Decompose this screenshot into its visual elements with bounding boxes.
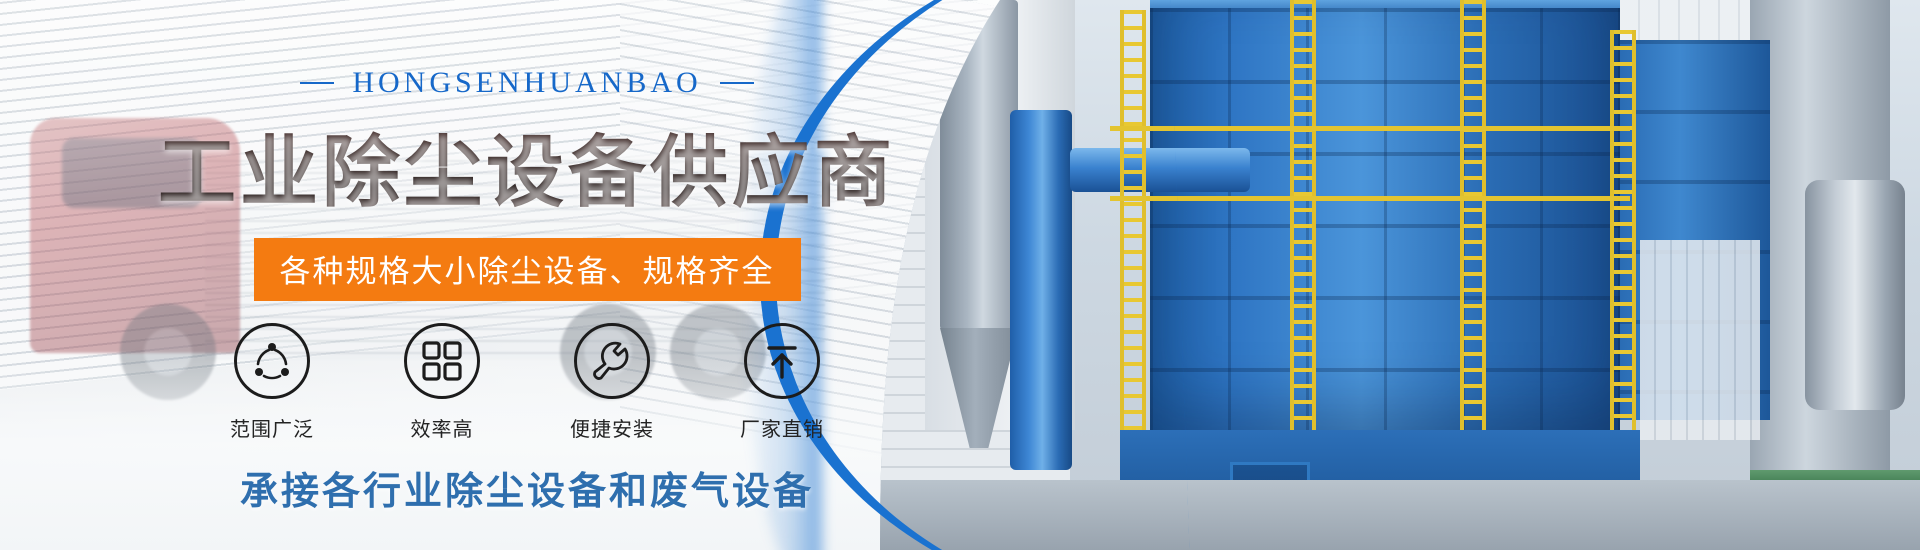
feature-label: 范围广泛 — [230, 413, 314, 442]
blue-duct-vertical — [1010, 110, 1072, 470]
eyebrow-text: HONGSENHUANBAO — [352, 66, 701, 100]
arrow-up-bar-icon — [744, 323, 820, 399]
steel-cylinder — [1805, 180, 1905, 410]
feature-item-installation[interactable]: 便捷安装 — [558, 323, 666, 442]
subtitle-bar: 各种规格大小除尘设备、规格齐全 — [254, 238, 801, 301]
yellow-ladder — [1120, 10, 1146, 430]
eyebrow: HONGSENHUANBAO — [300, 66, 753, 100]
feature-item-efficiency[interactable]: 效率高 — [388, 323, 496, 442]
hero-banner: 13132700 HONGSENHUANBAO — [0, 0, 1920, 550]
yellow-ladder — [1290, 0, 1316, 440]
feature-label: 便捷安装 — [570, 413, 654, 442]
blue-duct-horizontal — [1070, 148, 1250, 192]
dash-left-icon — [300, 82, 334, 84]
yellow-handrail — [1110, 126, 1630, 131]
feature-label: 厂家直销 — [740, 413, 824, 442]
banner-content: HONGSENHUANBAO 工业除尘设备供应商 各种规格大小除尘设备、规格齐全 — [0, 0, 1010, 550]
wrench-icon — [574, 323, 650, 399]
corrugated-wall-lower — [1640, 240, 1760, 440]
feature-list: 范围广泛 效率高 — [218, 323, 836, 442]
grid-squares-icon — [404, 323, 480, 399]
baghouse-dust-collector — [1150, 8, 1620, 438]
yellow-ladder — [1610, 30, 1636, 430]
network-scope-icon — [234, 323, 310, 399]
feature-item-scope[interactable]: 范围广泛 — [218, 323, 326, 442]
yellow-handrail — [1110, 196, 1630, 201]
feature-item-factory-direct[interactable]: 厂家直销 — [728, 323, 836, 442]
tagline: 承接各行业除尘设备和废气设备 — [240, 460, 814, 515]
feature-label: 效率高 — [411, 413, 474, 442]
yellow-ladder — [1460, 0, 1486, 430]
page-title: 工业除尘设备供应商 — [158, 110, 896, 222]
dash-right-icon — [720, 82, 754, 84]
